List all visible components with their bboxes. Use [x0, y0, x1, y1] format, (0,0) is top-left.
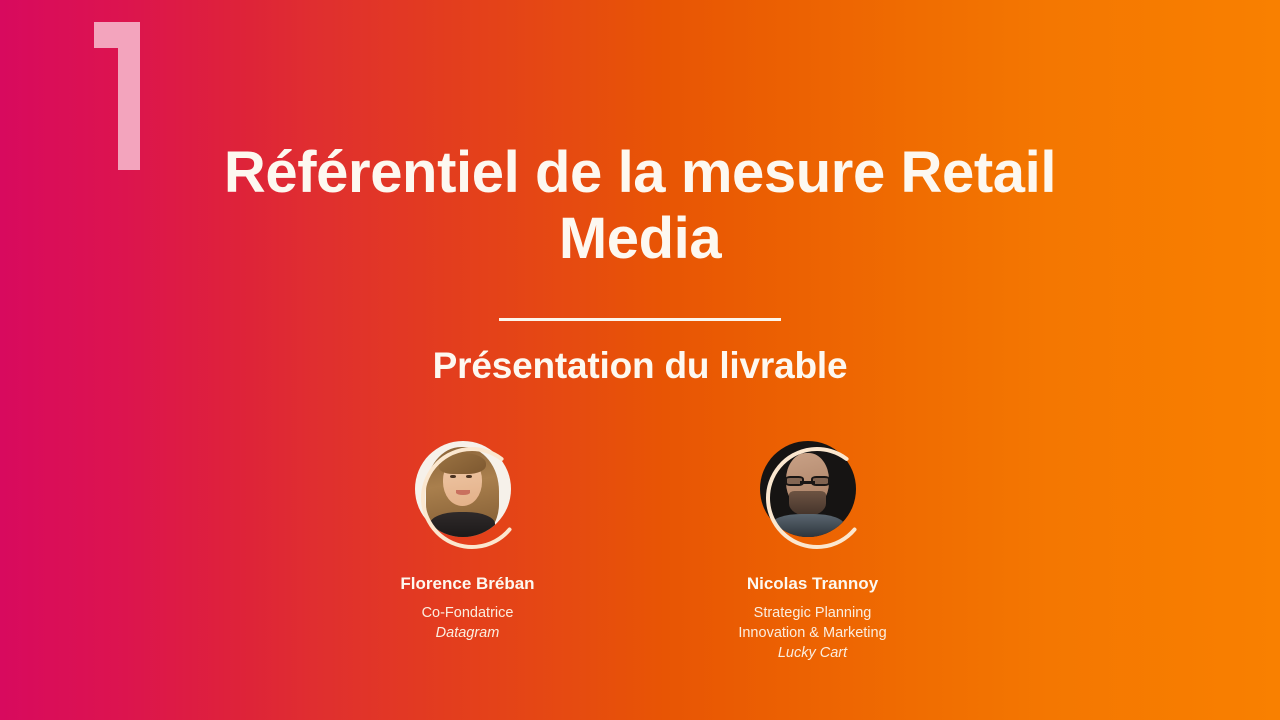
- mouth-shape: [456, 490, 470, 495]
- title-block: Référentiel de la mesure Retail Media: [0, 140, 1280, 271]
- avatar-photo-nicolas: [760, 441, 856, 537]
- avatar-photo-florence: [415, 441, 511, 537]
- torso-shape: [771, 514, 844, 537]
- torso-shape: [430, 512, 495, 537]
- speaker-role: Strategic PlanningInnovation & Marketing: [738, 603, 886, 643]
- speaker-role: Co-Fondatrice: [422, 603, 514, 623]
- subtitle-wrap: Présentation du livrable: [0, 345, 1280, 387]
- avatar: [415, 441, 511, 537]
- speaker-name: Nicolas Trannoy: [747, 574, 878, 594]
- subtitle: Présentation du livrable: [0, 345, 1280, 387]
- section-number-top-bar: [94, 22, 140, 48]
- speaker-company: Lucky Cart: [778, 643, 847, 663]
- fringe-shape: [439, 453, 485, 474]
- avatar: [760, 441, 856, 537]
- title-divider: [499, 318, 781, 321]
- speaker-name: Florence Bréban: [400, 574, 534, 594]
- avatar-wrap: [409, 438, 527, 550]
- main-title-line-2: Media: [150, 206, 1130, 272]
- title-divider-wrap: [0, 318, 1280, 321]
- speaker-card: Florence Bréban Co-Fondatrice Datagram: [378, 438, 558, 643]
- speakers-row: Florence Bréban Co-Fondatrice Datagram: [0, 438, 1280, 663]
- main-title-line-1: Référentiel de la mesure Retail: [150, 140, 1130, 206]
- presentation-slide: 1 Référentiel de la mesure Retail Media …: [0, 0, 1280, 720]
- speaker-card: Nicolas Trannoy Strategic PlanningInnova…: [723, 438, 903, 663]
- glasses-bridge-shape: [800, 481, 815, 484]
- avatar-wrap: [754, 438, 872, 550]
- speaker-company: Datagram: [436, 623, 500, 643]
- beard-shape: [789, 491, 825, 516]
